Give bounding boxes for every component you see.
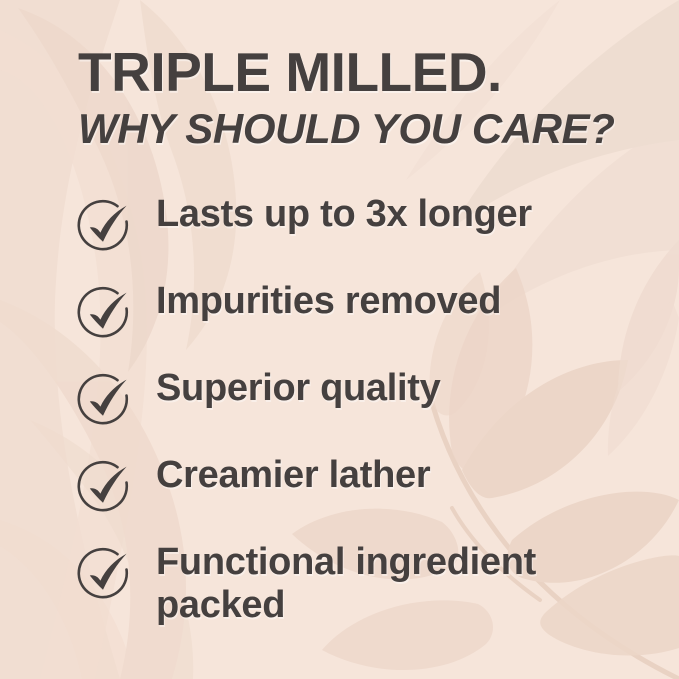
check-circle-icon: [76, 286, 134, 344]
list-item-label: Functional ingredient packed: [156, 541, 586, 626]
list-item: Superior quality: [78, 367, 639, 454]
promo-content: TRIPLE MILLED. WHY SHOULD YOU CARE? Last…: [0, 0, 679, 679]
list-item-label: Superior quality: [156, 367, 440, 410]
page-subtitle: WHY SHOULD YOU CARE?: [78, 107, 639, 151]
check-circle-icon: [76, 460, 134, 518]
page-title: TRIPLE MILLED.: [78, 44, 639, 100]
list-item: Impurities removed: [78, 280, 639, 367]
list-item-label: Creamier lather: [156, 454, 430, 497]
check-circle-icon: [76, 547, 134, 605]
list-item-label: Lasts up to 3x longer: [156, 193, 532, 236]
list-item: Functional ingredient packed: [78, 541, 639, 628]
list-item-label: Impurities removed: [156, 280, 501, 323]
list-item: Lasts up to 3x longer: [78, 193, 639, 280]
check-circle-icon: [76, 373, 134, 431]
benefits-list: Lasts up to 3x longer Impurities removed…: [78, 193, 639, 628]
check-circle-icon: [76, 199, 134, 257]
list-item: Creamier lather: [78, 454, 639, 541]
